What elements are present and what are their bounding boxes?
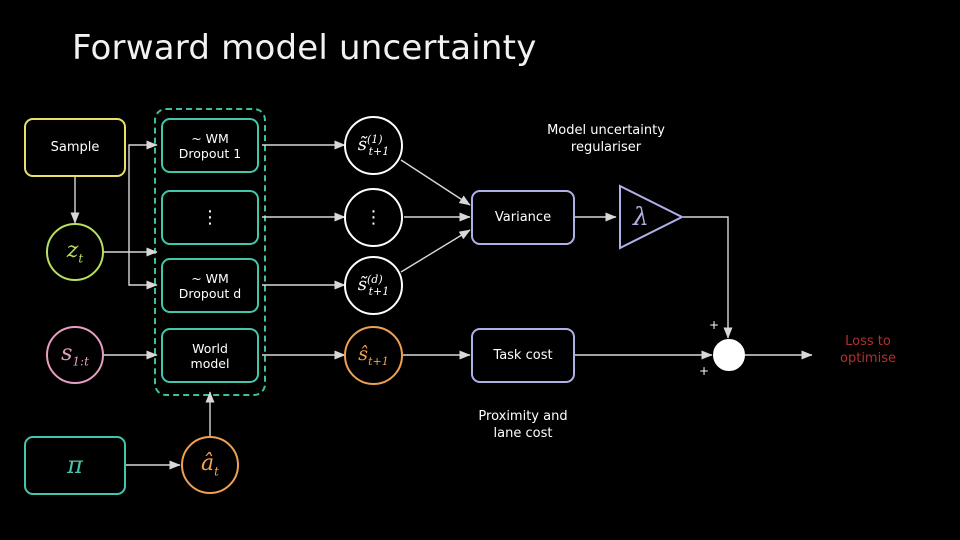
node-action-label: ât	[201, 451, 219, 479]
node-wm-dropout-d[interactable]: ~ WM Dropout d	[161, 258, 259, 313]
connector-layer	[0, 0, 960, 540]
node-lambda-label: λ	[633, 202, 649, 231]
node-zt[interactable]: zt	[46, 223, 104, 281]
node-s-tilde-middle[interactable]: ⋮	[344, 188, 403, 247]
node-s-tilde-d-label: s̃(d)t+1	[358, 273, 390, 298]
node-sample-label: Sample	[51, 140, 100, 156]
label-model-uncertainty: Model uncertainty regulariser	[508, 123, 704, 157]
node-action[interactable]: ât	[181, 436, 239, 494]
node-policy-label: π	[67, 451, 83, 480]
node-wm-dropout-1-text: ~ WM Dropout 1	[179, 131, 241, 161]
node-s-hat[interactable]: ŝt+1	[344, 326, 403, 385]
diagram-canvas: Forward model uncertainty	[0, 0, 960, 540]
sum-plus-bottom: +	[696, 364, 712, 380]
node-zt-label: zt	[67, 238, 83, 266]
node-sample[interactable]: Sample	[24, 118, 126, 177]
node-s-tilde-d[interactable]: s̃(d)t+1	[344, 256, 403, 315]
node-world-model[interactable]: World model	[161, 328, 259, 383]
page-title: Forward model uncertainty	[72, 28, 537, 68]
sum-plus-top: +	[706, 318, 722, 334]
node-variance-label: Variance	[495, 210, 551, 226]
node-wm-dropout-1[interactable]: ~ WM Dropout 1	[161, 118, 259, 173]
label-loss-to-optimise: Loss to optimise	[812, 334, 924, 368]
node-wm-middle[interactable]: ⋮	[161, 190, 259, 245]
label-proximity-lane-cost: Proximity and lane cost	[425, 409, 621, 443]
node-lambda-gain[interactable]: λ	[617, 182, 687, 252]
node-wm-middle-label: ⋮	[201, 207, 219, 229]
node-s-hat-label: ŝt+1	[358, 343, 388, 368]
node-s-tilde-middle-label: ⋮	[365, 207, 383, 229]
node-policy[interactable]: π	[24, 436, 126, 495]
node-world-model-text: World model	[191, 341, 230, 371]
node-s-tilde-1[interactable]: s̃(1)t+1	[344, 116, 403, 175]
node-s1t-label: s1:t	[61, 341, 89, 369]
node-task-cost-label: Task cost	[493, 348, 552, 364]
node-variance[interactable]: Variance	[471, 190, 575, 245]
node-s-tilde-1-label: s̃(1)t+1	[358, 133, 389, 158]
node-task-cost[interactable]: Task cost	[471, 328, 575, 383]
node-s1t[interactable]: s1:t	[46, 326, 104, 384]
node-sum[interactable]	[713, 339, 745, 371]
node-wm-dropout-d-text: ~ WM Dropout d	[179, 271, 241, 301]
